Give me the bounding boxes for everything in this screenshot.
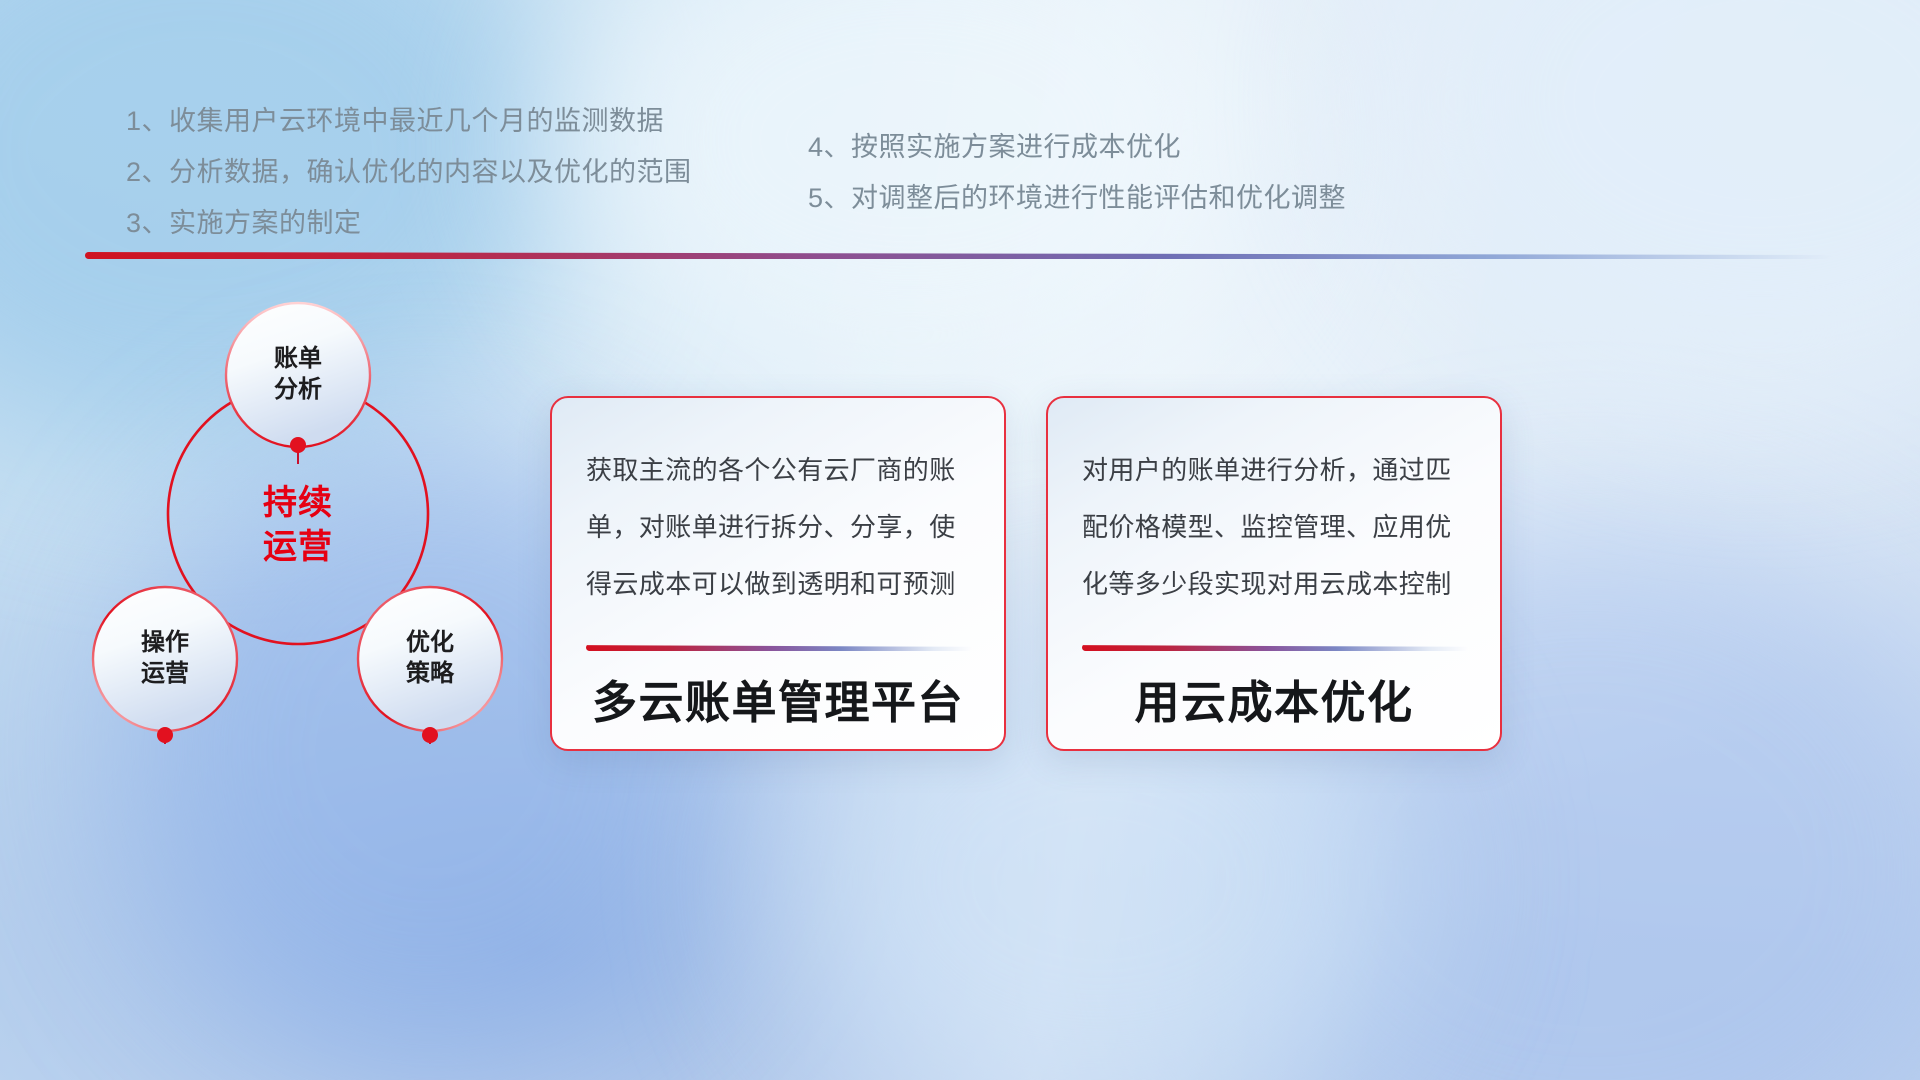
step-item: 1、收集用户云环境中最近几个月的监测数据 bbox=[126, 96, 692, 147]
venn-node-dot bbox=[422, 727, 438, 743]
venn-label-center: 持续 运营 bbox=[238, 482, 358, 569]
venn-node-dot bbox=[290, 437, 306, 453]
steps-left-column: 1、收集用户云环境中最近几个月的监测数据 2、分析数据，确认优化的内容以及优化的… bbox=[126, 96, 692, 249]
card-body-text: 获取主流的各个公有云厂商的账单，对账单进行拆分、分享，使得云成本可以做到透明和可… bbox=[586, 442, 976, 613]
venn-diagram: 账单 分析 操作 运营 优化 策略 持续 运营 bbox=[80, 288, 540, 768]
venn-label-bill-analysis: 账单 分析 bbox=[238, 344, 358, 405]
card-title: 多云账单管理平台 bbox=[552, 666, 1004, 731]
steps-right-column: 4、按照实施方案进行成本优化 5、对调整后的环境进行性能评估和优化调整 bbox=[808, 122, 1346, 224]
card-multi-cloud-billing[interactable]: 获取主流的各个公有云厂商的账单，对账单进行拆分、分享，使得云成本可以做到透明和可… bbox=[550, 396, 1006, 751]
step-item: 2、分析数据，确认优化的内容以及优化的范围 bbox=[126, 147, 692, 198]
venn-label-operation-ops: 操作 运营 bbox=[105, 628, 225, 689]
card-body-text: 对用户的账单进行分析，通过匹配价格模型、监控管理、应用优化等多少段实现对用云成本… bbox=[1082, 442, 1472, 613]
step-item: 4、按照实施方案进行成本优化 bbox=[808, 122, 1346, 173]
venn-label-optimization-strategy: 优化 策略 bbox=[370, 628, 490, 689]
venn-node-dot bbox=[157, 727, 173, 743]
card-divider bbox=[1082, 644, 1468, 651]
card-divider bbox=[586, 644, 972, 651]
card-cloud-cost-optimization[interactable]: 对用户的账单进行分析，通过匹配价格模型、监控管理、应用优化等多少段实现对用云成本… bbox=[1046, 396, 1502, 751]
step-item: 5、对调整后的环境进行性能评估和优化调整 bbox=[808, 173, 1346, 224]
step-item: 3、实施方案的制定 bbox=[126, 198, 692, 249]
card-title: 用云成本优化 bbox=[1048, 666, 1500, 731]
